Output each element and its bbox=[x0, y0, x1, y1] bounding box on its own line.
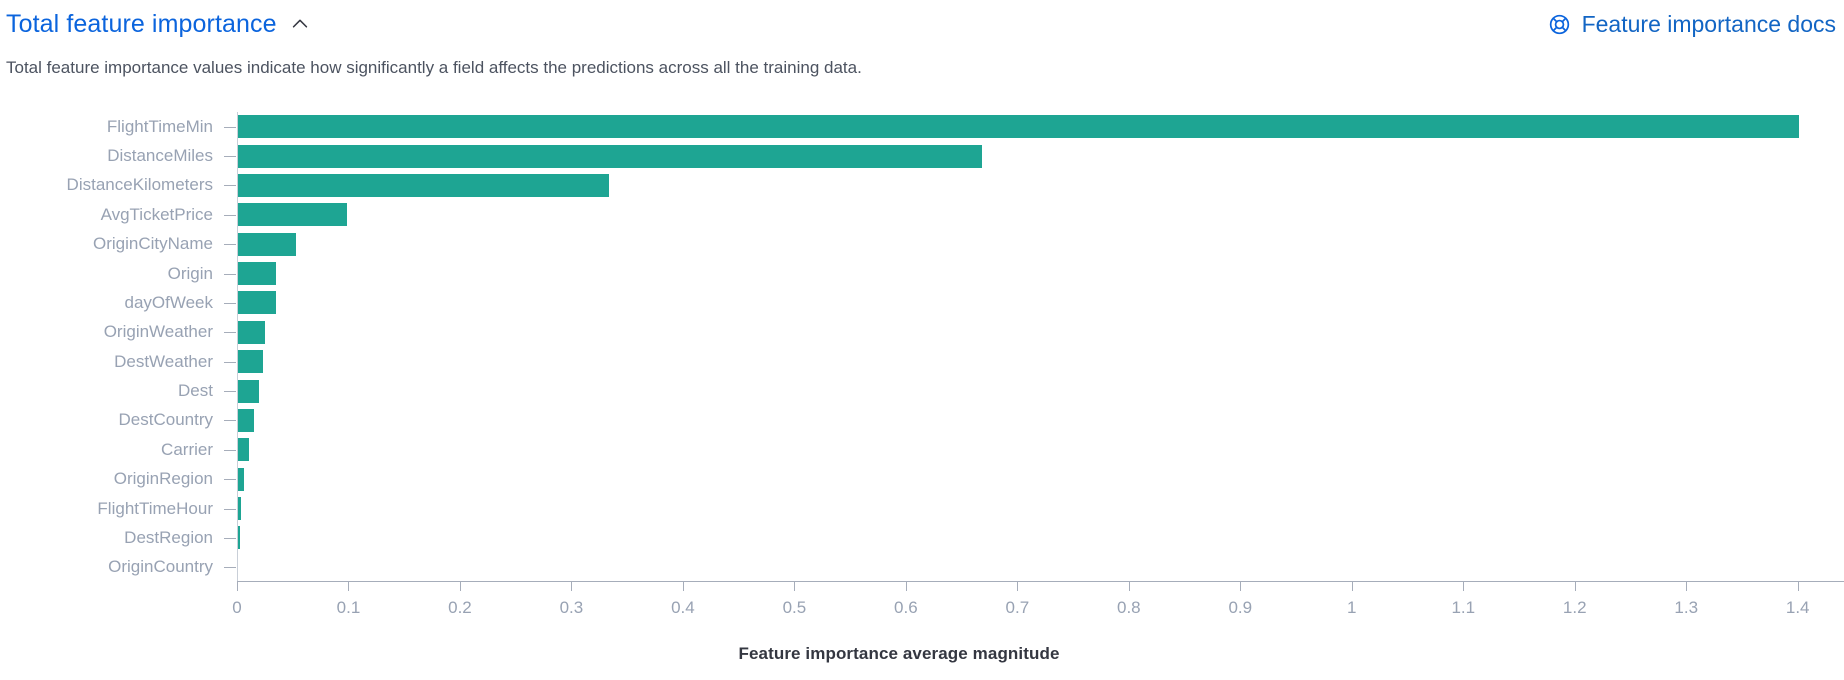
y-axis-tick bbox=[224, 538, 236, 539]
x-axis-tick-label: 0.5 bbox=[783, 598, 807, 618]
plot-area bbox=[237, 112, 1820, 582]
bar[interactable] bbox=[238, 438, 249, 461]
x-axis-tick-label: 0.6 bbox=[894, 598, 918, 618]
y-axis-label: AvgTicketPrice bbox=[101, 205, 213, 225]
bar[interactable] bbox=[238, 321, 265, 344]
x-axis-tick bbox=[1352, 582, 1353, 591]
bar[interactable] bbox=[238, 291, 276, 314]
x-axis-title: Feature importance average magnitude bbox=[0, 644, 1844, 664]
y-axis-tick bbox=[224, 244, 236, 245]
x-axis-title-text: Feature importance average magnitude bbox=[738, 644, 1059, 664]
x-axis-tick-label: 1 bbox=[1347, 598, 1356, 618]
y-axis-tick bbox=[224, 479, 236, 480]
y-axis-label: OriginWeather bbox=[104, 322, 213, 342]
x-axis-tick bbox=[1575, 582, 1576, 591]
bar[interactable] bbox=[238, 174, 609, 197]
y-axis-label: OriginRegion bbox=[114, 469, 213, 489]
feature-importance-bar-chart: FlightTimeMinDistanceMilesDistanceKilome… bbox=[0, 112, 1844, 680]
bar[interactable] bbox=[238, 350, 263, 373]
y-axis-tick bbox=[224, 420, 236, 421]
bar[interactable] bbox=[238, 409, 254, 432]
bar[interactable] bbox=[238, 526, 240, 549]
y-axis-label: DistanceKilometers bbox=[67, 175, 213, 195]
bar[interactable] bbox=[238, 468, 244, 491]
x-axis-tick bbox=[906, 582, 907, 591]
x-axis-tick bbox=[1686, 582, 1687, 591]
y-axis-tick bbox=[224, 215, 236, 216]
x-axis-tick-label: 1.1 bbox=[1451, 598, 1475, 618]
y-axis-label: OriginCityName bbox=[93, 234, 213, 254]
total-feature-importance-panel: Total feature importance Feature importa… bbox=[0, 0, 1844, 680]
y-axis-label: FlightTimeHour bbox=[97, 499, 213, 519]
bar[interactable] bbox=[238, 203, 347, 226]
y-axis-tick bbox=[224, 156, 236, 157]
x-axis-tick-label: 0.7 bbox=[1006, 598, 1030, 618]
x-axis-tick-label: 0.9 bbox=[1228, 598, 1252, 618]
x-axis-tick bbox=[1240, 582, 1241, 591]
y-axis-tick bbox=[224, 567, 236, 568]
bar[interactable] bbox=[238, 497, 241, 520]
docs-link-label: Feature importance docs bbox=[1582, 10, 1836, 38]
x-axis-tick-label: 0.8 bbox=[1117, 598, 1141, 618]
y-axis-tick bbox=[224, 362, 236, 363]
x-axis-tick-label: 0.3 bbox=[560, 598, 584, 618]
x-axis-tick bbox=[348, 582, 349, 591]
y-axis-tick bbox=[224, 185, 236, 186]
x-axis-tick-label: 1.2 bbox=[1563, 598, 1587, 618]
x-axis-tick-label: 0.2 bbox=[448, 598, 472, 618]
x-axis-tick bbox=[683, 582, 684, 591]
y-axis-tick bbox=[224, 450, 236, 451]
x-axis-tick-label: 1.3 bbox=[1674, 598, 1698, 618]
panel-description: Total feature importance values indicate… bbox=[6, 56, 862, 80]
x-axis-tick bbox=[794, 582, 795, 591]
help-lifebuoy-icon bbox=[1548, 13, 1571, 36]
x-axis-ticks: 00.10.20.30.40.50.60.70.80.911.11.21.31.… bbox=[237, 582, 1844, 642]
x-axis-tick-label: 0 bbox=[232, 598, 241, 618]
y-axis-tick bbox=[224, 509, 236, 510]
y-axis-label: Dest bbox=[178, 381, 213, 401]
y-axis-label: Origin bbox=[168, 264, 213, 284]
y-axis-label: OriginCountry bbox=[108, 557, 213, 577]
panel-title-toggle[interactable]: Total feature importance bbox=[6, 8, 311, 40]
y-axis-tick bbox=[224, 332, 236, 333]
x-axis-tick-label: 0.1 bbox=[337, 598, 361, 618]
y-axis-label: DestRegion bbox=[124, 528, 213, 548]
y-axis-label: FlightTimeMin bbox=[107, 117, 213, 137]
bar[interactable] bbox=[238, 262, 276, 285]
x-axis-tick-label: 0.4 bbox=[671, 598, 695, 618]
y-axis-tick bbox=[224, 127, 236, 128]
chevron-up-icon[interactable] bbox=[289, 13, 311, 35]
bar[interactable] bbox=[238, 380, 259, 403]
y-axis-labels: FlightTimeMinDistanceMilesDistanceKilome… bbox=[0, 112, 213, 582]
y-axis-label: dayOfWeek bbox=[124, 293, 213, 313]
y-axis-tick bbox=[224, 391, 236, 392]
x-axis-tick bbox=[1463, 582, 1464, 591]
y-axis-label: Carrier bbox=[161, 440, 213, 460]
x-axis-tick bbox=[1129, 582, 1130, 591]
x-axis-tick bbox=[237, 582, 238, 591]
y-axis-label: DestWeather bbox=[114, 352, 213, 372]
x-axis-tick bbox=[1017, 582, 1018, 591]
x-axis-tick-label: 1.4 bbox=[1786, 598, 1810, 618]
y-axis-tick bbox=[224, 274, 236, 275]
page-title: Total feature importance bbox=[6, 8, 277, 40]
y-axis-tick bbox=[224, 303, 236, 304]
bar[interactable] bbox=[238, 115, 1799, 138]
bar[interactable] bbox=[238, 145, 982, 168]
panel-header: Total feature importance Feature importa… bbox=[0, 0, 1844, 48]
bar[interactable] bbox=[238, 233, 296, 256]
y-axis-label: DistanceMiles bbox=[107, 146, 213, 166]
x-axis-tick bbox=[571, 582, 572, 591]
feature-importance-docs-link[interactable]: Feature importance docs bbox=[1548, 10, 1836, 38]
x-axis-tick bbox=[1798, 582, 1799, 591]
x-axis-tick bbox=[460, 582, 461, 591]
y-axis-label: DestCountry bbox=[119, 410, 213, 430]
